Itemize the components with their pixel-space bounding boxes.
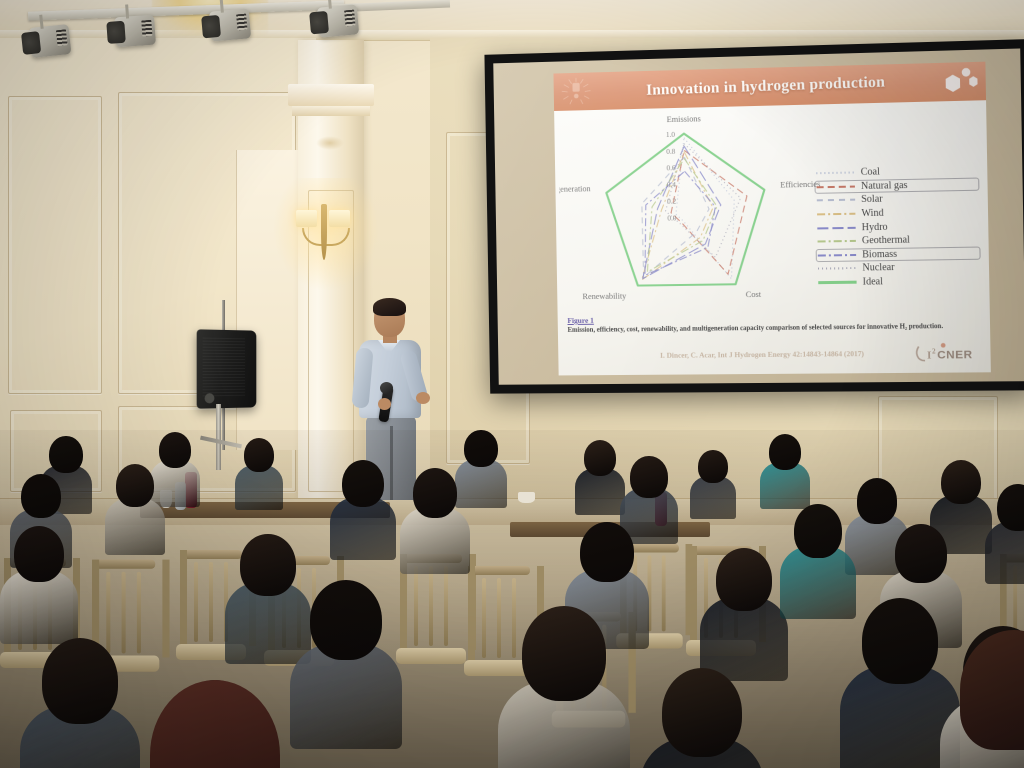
radar-axis-label-multigeneration: Multigeneration [558, 184, 592, 194]
radar-chart: 1.00.80.60.40.20.0EmissionsEfficienciesC… [558, 106, 829, 315]
slide-body: 1.00.80.60.40.20.0EmissionsEfficienciesC… [554, 100, 991, 375]
lecture-hall-photo: Innovation in hydrogen production 1.00.8… [0, 0, 1024, 768]
audience-member-head [413, 468, 458, 518]
audience-member-head [769, 434, 801, 470]
audience-member-head [159, 432, 191, 468]
hexagon-cluster-logo-icon [942, 66, 979, 97]
audience-member-head [716, 548, 772, 611]
legend-key-swatch [816, 249, 859, 261]
legend-label: Ideal [863, 276, 883, 287]
legend-label: Natural gas [861, 180, 908, 192]
wall-panel-moulding [8, 96, 102, 394]
radar-tick-label: 0.2 [667, 197, 677, 206]
presenter-left-hand [378, 398, 391, 410]
audience-member-head [857, 478, 898, 524]
audience-member-head [895, 524, 947, 583]
legend-key-swatch [814, 167, 857, 179]
legend-key-swatch [815, 195, 858, 207]
speaker-badge-icon [205, 393, 215, 403]
figure-caption: Figure 1 Emission, efficiency, cost, ren… [567, 311, 979, 335]
radar-tick-label: 0.4 [667, 180, 677, 189]
audience-member-head [698, 450, 727, 483]
projection-screen: Innovation in hydrogen production 1.00.8… [484, 39, 1024, 394]
audience-area [0, 430, 1024, 768]
projection-surface: Innovation in hydrogen production 1.00.8… [493, 48, 1024, 384]
audience-member-head [630, 456, 667, 498]
chart-legend: CoalNatural gasSolarWindHydroGeothermalB… [814, 163, 981, 289]
radar-tick-label: 0.8 [666, 146, 676, 155]
presenter-right-hand [416, 392, 430, 404]
citation-text: I. Dincer, C. Acar, Int J Hydrogen Energ… [613, 349, 913, 361]
audience-member-head [662, 668, 741, 757]
pilaster-capital [288, 84, 374, 106]
audience-member-head [240, 534, 295, 596]
legend-key-swatch [815, 236, 858, 248]
stage-spotlight-icon [317, 4, 359, 37]
legend-label: Geothermal [862, 235, 910, 247]
audience-member-head [244, 438, 275, 472]
legend-key-swatch [816, 277, 859, 289]
stage-spotlight-icon [29, 24, 72, 58]
audience-member-head [464, 430, 497, 467]
legend-key-swatch [814, 181, 857, 193]
svg-text:2: 2 [932, 348, 936, 355]
radar-chart-svg: 1.00.80.60.40.20.0EmissionsEfficienciesC… [558, 106, 829, 315]
legend-label: Biomass [862, 249, 897, 261]
audience-member-head [116, 464, 154, 507]
audience-member-head [862, 598, 939, 684]
pilaster-medallion-icon [316, 136, 344, 150]
legend-key-swatch [815, 208, 858, 220]
radar-axis-label-emissions: Emissions [667, 114, 701, 124]
radar-series-wind [640, 151, 715, 280]
audience-member-head [794, 504, 843, 558]
radar-tick-label: 0.0 [667, 213, 677, 222]
stage-spotlight-icon [209, 8, 251, 41]
audience-member-head [941, 460, 981, 504]
presenter-hair [373, 298, 406, 316]
legend-label: Hydro [862, 221, 888, 233]
audience-member-head [310, 580, 382, 660]
audience-member-head [522, 606, 606, 701]
radar-tick-label: 0.6 [666, 163, 676, 172]
audience-member-head [580, 522, 634, 582]
pa-speaker [197, 329, 257, 408]
presentation-slide: Innovation in hydrogen production 1.00.8… [553, 62, 990, 376]
wall-sconce-icon [296, 204, 352, 262]
legend-label: Solar [861, 194, 883, 205]
legend-key-swatch [815, 222, 858, 234]
legend-label: Nuclear [862, 262, 894, 274]
legend-label: Coal [861, 167, 880, 178]
radar-axis-label-cost: Cost [746, 290, 762, 299]
microphone-capsule-icon [380, 382, 393, 394]
audience-member-head [14, 526, 64, 582]
audience-member-head [49, 436, 82, 473]
chiavari-chair [468, 566, 530, 686]
audience-member-head [584, 440, 616, 476]
audience-member-head [342, 460, 384, 507]
legend-item-ideal: Ideal [816, 274, 981, 290]
stage-spotlight-icon [114, 15, 156, 48]
audience-member-head [21, 474, 61, 518]
radar-series-natural-gas [670, 149, 748, 275]
pilaster-capital-band [292, 106, 370, 116]
radar-axis-label-renewability: Renewability [582, 292, 627, 302]
coffee-cup [518, 492, 535, 503]
i2cner-logo-icon: I 2 CNER [912, 340, 982, 365]
slide-title: Innovation in hydrogen production [591, 71, 943, 101]
speaker-grille [203, 338, 245, 397]
legend-key-swatch [816, 263, 859, 275]
svg-text:CNER: CNER [937, 349, 973, 362]
audience-member-head [42, 638, 119, 724]
university-crest-icon [561, 77, 591, 105]
legend-label: Wind [861, 208, 883, 219]
radar-tick-label: 1.0 [666, 130, 676, 139]
svg-text:I: I [927, 349, 932, 361]
